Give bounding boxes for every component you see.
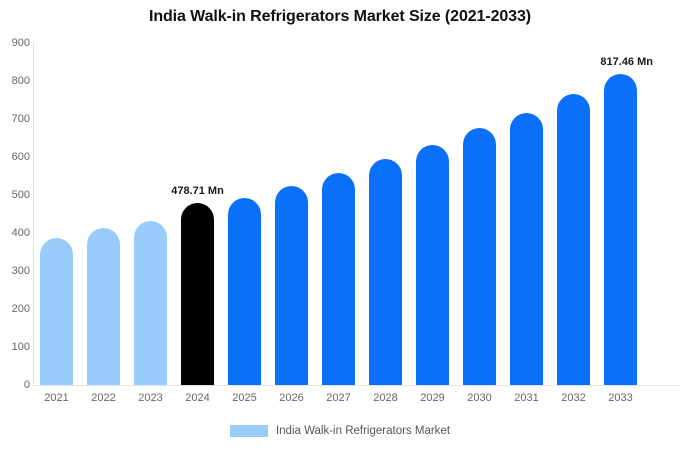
y-axis-tick: 600 [2,152,30,163]
y-axis-tick: 400 [2,228,30,239]
bar-2021[interactable] [40,238,73,385]
y-axis-tick: 100 [2,342,30,353]
bar-value-label: 478.71 Mn [167,185,228,197]
x-axis-tick-2023: 2023 [134,392,167,405]
x-axis-tick-2031: 2031 [510,392,543,405]
bar-2025[interactable] [228,198,261,385]
x-axis-tick-2032: 2032 [557,392,590,405]
y-axis-tick: 0 [2,380,30,391]
legend-swatch-icon [230,425,268,437]
bar-group[interactable]: 817.46 Mn [604,43,637,385]
legend-item[interactable]: India Walk-in Refrigerators Market [230,425,450,437]
bar-group[interactable] [510,43,543,385]
x-axis-tick-2028: 2028 [369,392,402,405]
x-axis-tick-2033: 2033 [604,392,637,405]
x-axis-tick-2024: 2024 [181,392,214,405]
bar-2032[interactable] [557,94,590,385]
bar-2029[interactable] [416,145,449,385]
bar-group[interactable] [369,43,402,385]
bar-group[interactable] [134,43,167,385]
bar-group[interactable] [557,43,590,385]
bar-2033[interactable] [604,74,637,385]
y-axis: 0100200300400500600700800900 [0,43,30,386]
bar-2023[interactable] [134,221,167,385]
chart-container: India Walk-in Refrigerators Market Size … [0,0,680,450]
y-axis-tick: 900 [2,38,30,49]
chart-legend: India Walk-in Refrigerators Market [0,425,680,437]
bar-2031[interactable] [510,113,543,385]
y-axis-tick: 800 [2,76,30,87]
x-axis: 2021202220232024202520262027202820292030… [33,392,680,410]
x-axis-tick-2025: 2025 [228,392,261,405]
legend-label: India Walk-in Refrigerators Market [276,425,450,437]
bar-value-label: 817.46 Mn [600,56,653,68]
x-axis-tick-2021: 2021 [40,392,73,405]
bar-group[interactable] [40,43,73,385]
y-axis-tick: 500 [2,190,30,201]
x-axis-tick-2027: 2027 [322,392,355,405]
plot-area: 478.71 Mn817.46 Mn [33,43,680,385]
bar-group[interactable] [275,43,308,385]
bar-2026[interactable] [275,186,308,385]
bar-group[interactable] [322,43,355,385]
y-axis-tick: 200 [2,304,30,315]
bar-2028[interactable] [369,159,402,385]
bar-group[interactable] [463,43,496,385]
x-axis-tick-2022: 2022 [87,392,120,405]
y-axis-tick: 700 [2,114,30,125]
chart-title: India Walk-in Refrigerators Market Size … [0,8,680,26]
bar-group[interactable] [87,43,120,385]
x-axis-tick-2029: 2029 [416,392,449,405]
bar-2022[interactable] [87,228,120,385]
x-axis-tick-2030: 2030 [463,392,496,405]
x-axis-tick-2026: 2026 [275,392,308,405]
bar-group[interactable] [416,43,449,385]
bar-group[interactable] [228,43,261,385]
bar-2030[interactable] [463,128,496,385]
x-axis-line [33,385,680,386]
y-axis-tick: 300 [2,266,30,277]
bar-2027[interactable] [322,173,355,385]
bar-2024[interactable] [181,203,214,385]
bar-group[interactable]: 478.71 Mn [181,43,214,385]
